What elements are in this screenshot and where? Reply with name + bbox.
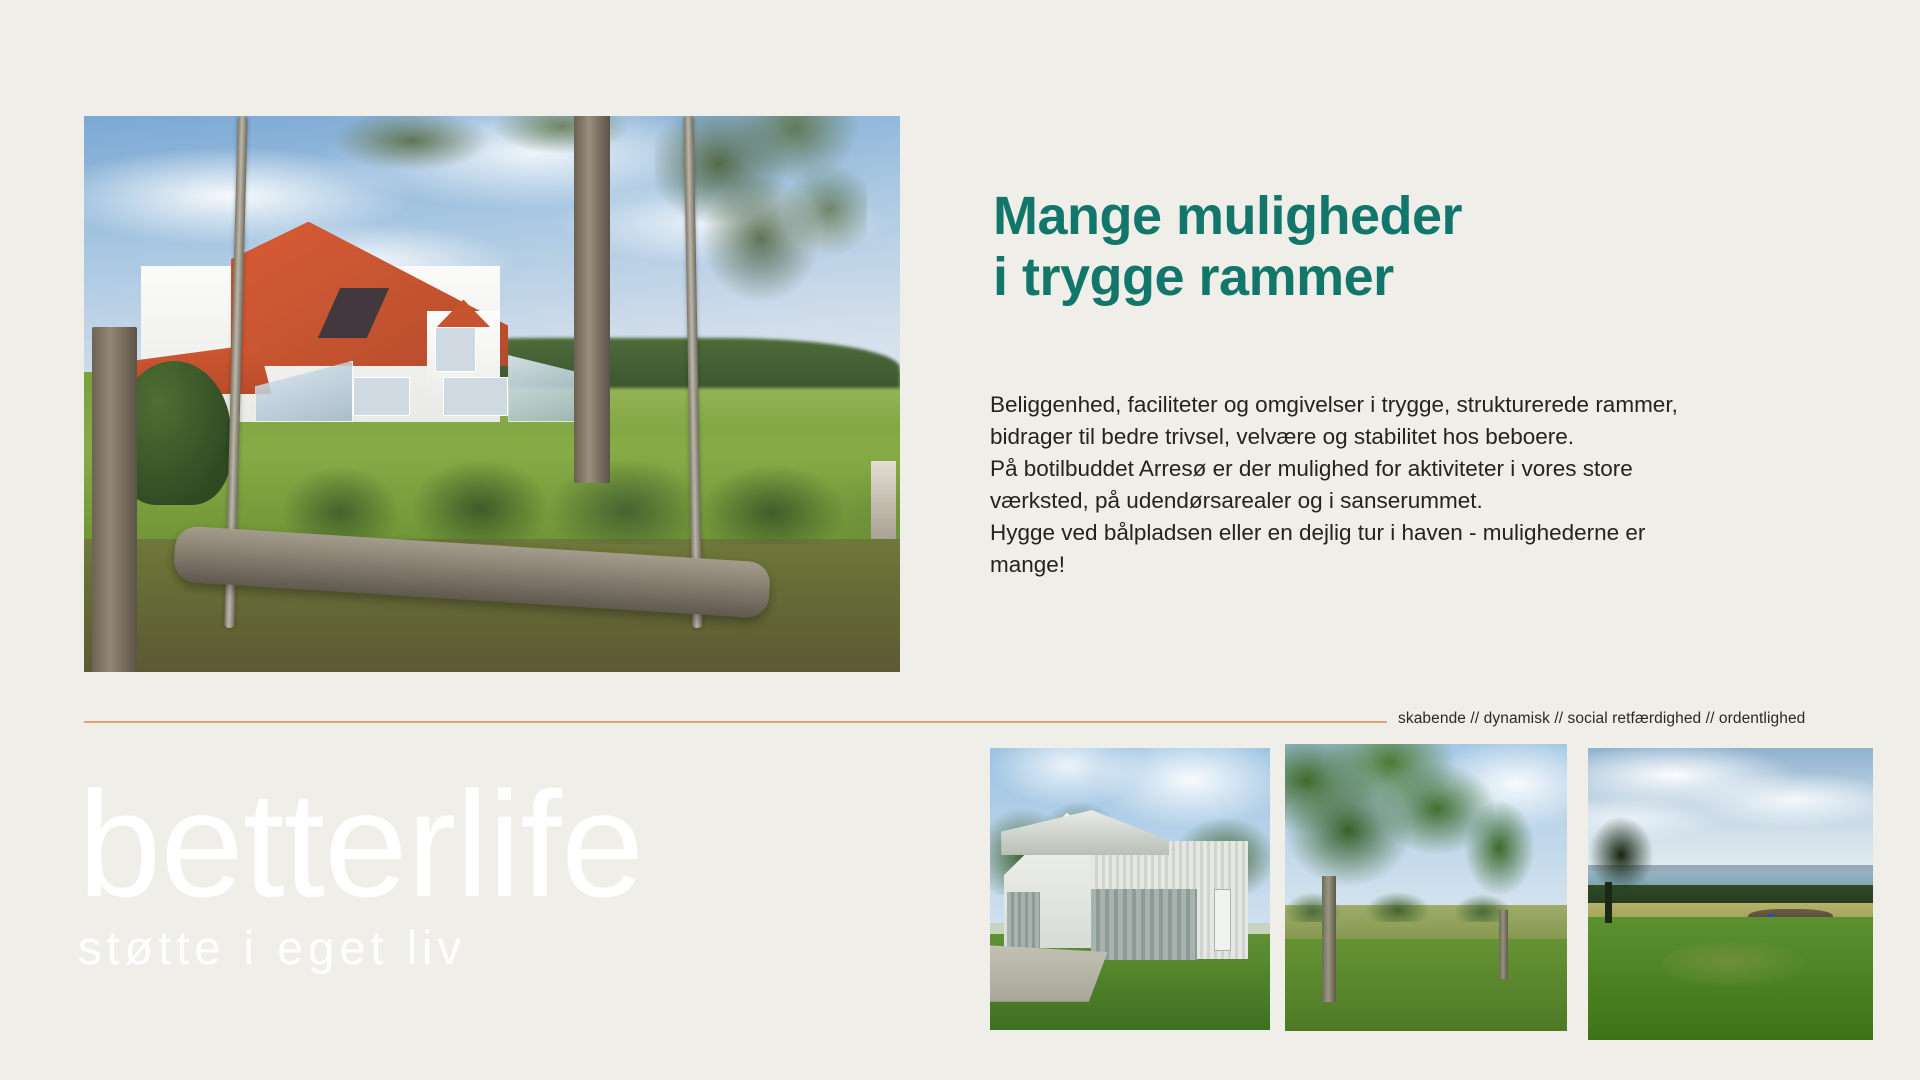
body-copy: Beliggenhed, faciliteter og omgivelser i… — [990, 389, 1830, 581]
logo-tagline: støtte i eget liv — [78, 924, 643, 971]
t3-tree-trunk — [1605, 882, 1612, 923]
body-line-6: mange! — [990, 549, 1830, 581]
t1-barn-door-left — [1007, 892, 1041, 948]
hero-window-right — [443, 377, 508, 416]
t1-barn-side-door — [1214, 889, 1231, 951]
thumbnail-workshop-barn — [990, 748, 1270, 1030]
body-line-2: bidrager til bedre trivsel, velvære og s… — [990, 421, 1830, 453]
values-tagline: skabende // dynamisk // social retfærdig… — [1398, 710, 1838, 728]
t1-barn-sliding-door — [1091, 889, 1197, 960]
hero-tree-trunk-left — [92, 327, 137, 672]
page-title: Mange muligheder i trygge rammer — [993, 186, 1813, 308]
headline-line-2: i trygge rammer — [993, 247, 1813, 308]
hero-tree-trunk-right — [574, 116, 611, 483]
thumbnail-sea-view-garden — [1588, 748, 1873, 1040]
hero-fence-post — [871, 461, 895, 539]
body-line-3: På botilbuddet Arresø er der mulighed fo… — [990, 453, 1830, 485]
logo-wordmark: betterlife — [78, 778, 643, 910]
brand-logo: betterlife støtte i eget liv — [78, 778, 643, 971]
hero-window-mid — [353, 377, 410, 416]
t3-wildflower-patch — [1662, 941, 1805, 988]
body-line-5: Hygge ved bålpladsen eller en dejlig tur… — [990, 517, 1830, 549]
horizontal-divider — [84, 721, 1387, 723]
body-line-4: værksted, på udendørsarealer og i sanser… — [990, 485, 1830, 517]
presentation-slide: Mange muligheder i trygge rammer Beligge… — [0, 0, 1920, 1080]
hero-window-upper — [435, 327, 476, 371]
t2-second-tree-trunk — [1499, 910, 1507, 979]
t3-silhouette-tree — [1588, 806, 1662, 911]
hero-photo-house-and-swing — [84, 116, 900, 672]
body-line-1: Beliggenhed, faciliteter og omgivelser i… — [990, 389, 1830, 421]
t2-second-tree-canopy — [1449, 790, 1551, 922]
hero-overhanging-branch — [329, 116, 704, 194]
headline-line-1: Mange muligheder — [993, 186, 1813, 247]
t2-main-tree-trunk — [1322, 876, 1336, 1002]
thumbnail-trees-meadow — [1285, 744, 1567, 1031]
t1-gravel-path — [990, 945, 1108, 1001]
